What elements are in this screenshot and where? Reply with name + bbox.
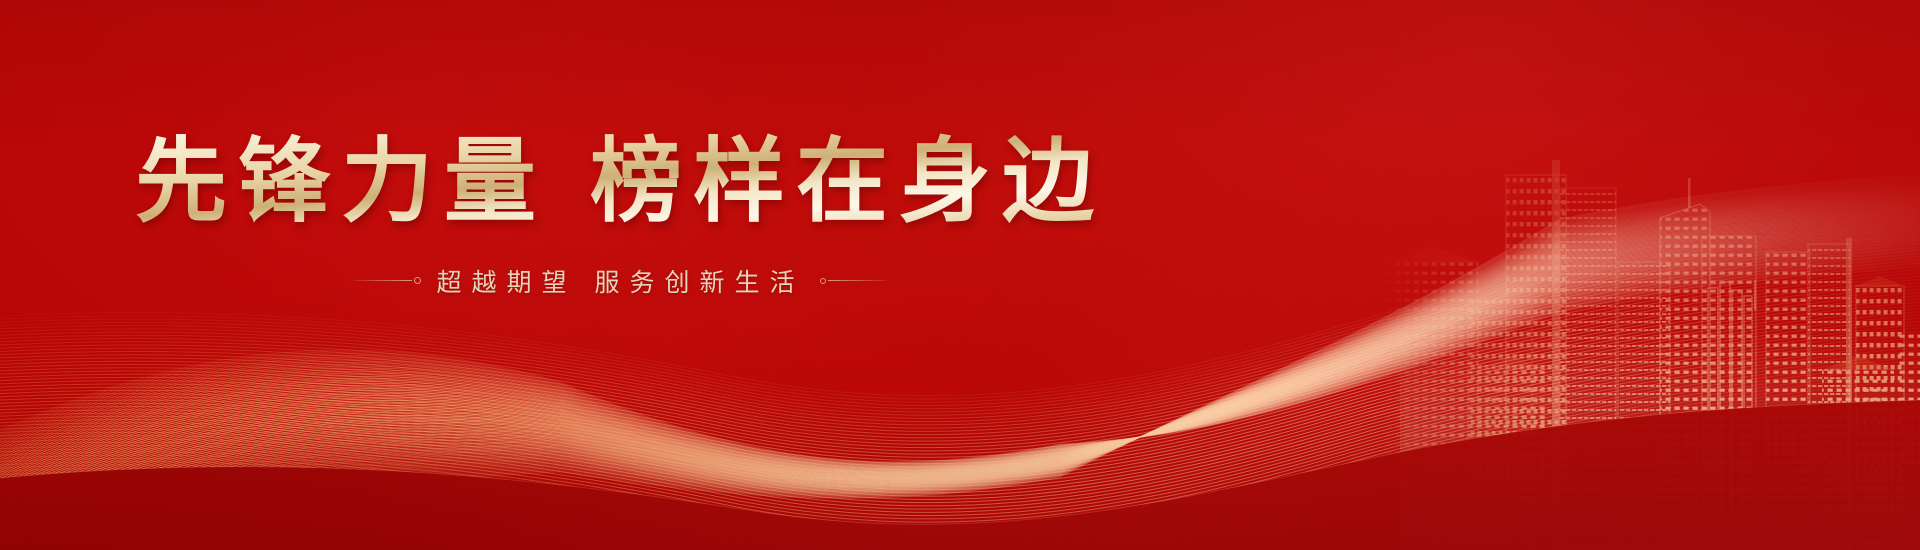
page-subtitle: 超越期望 服务创新生活 xyxy=(437,263,805,299)
page-title: 先锋力量 榜样在身边 xyxy=(0,128,1240,237)
line-dot-ornament-right-icon xyxy=(818,278,886,284)
ornament-bar xyxy=(354,280,412,282)
ornament-dot xyxy=(414,277,421,284)
line-dot-ornament-left-icon xyxy=(354,277,423,284)
headline-block: 先锋力量 榜样在身边 超越期望 服务创新生活 xyxy=(0,128,1240,299)
ornament-bar xyxy=(828,280,886,282)
subtitle-row: 超越期望 服务创新生活 xyxy=(0,263,1240,299)
promo-banner: 先锋力量 榜样在身边 超越期望 服务创新生活 xyxy=(0,0,1920,550)
ornament-dot xyxy=(820,278,826,284)
